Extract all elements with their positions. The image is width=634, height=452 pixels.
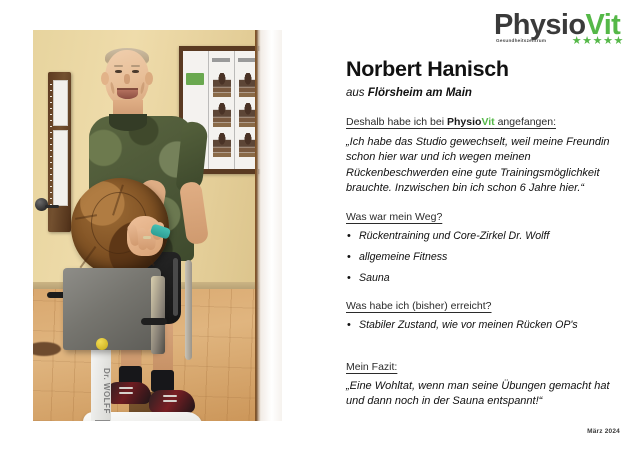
testimonial-photo: Dr. WOLFF [33,30,282,421]
spacer [346,347,618,361]
list-item: Rückentraining und Core-Zirkel Dr. Wolff [346,229,618,244]
shoe-lace [119,392,133,394]
person-shoe-left [107,382,151,404]
glass-partition [256,30,282,421]
date-stamp: März 2024 [587,428,620,435]
person-nose [124,74,130,84]
origin-city: Flörsheim am Main [368,87,472,99]
quote-why-started: „Ich habe das Studio gewechselt, weil me… [346,135,618,197]
section-heading-achieved: Was habe ich (bisher) erreicht? [346,300,618,313]
person-shoe-right [149,390,195,413]
origin-preposition: aus [346,87,365,99]
poster-logo-badge [186,73,204,85]
five-stars-icon: ★★★★★ [572,36,624,47]
machine-adjust-knob [96,338,108,350]
machine-handle-right [141,318,167,325]
quote-conclusion: „Eine Wohltat, wenn man seine Übungen ge… [346,379,618,410]
shoe-lace [163,395,177,397]
person-eye-right [132,70,139,73]
board-label-strip [53,130,68,206]
person-smile-line [110,82,115,94]
person-origin: aus Flörsheim am Main [346,87,618,101]
logo-tagline: Gesundheitszentrum [496,38,546,43]
section-heading-path: Was war mein Weg? [346,211,618,224]
testimonial-text-column: Norbert Hanisch aus Flörsheim am Main De… [346,58,618,424]
list-item: Sauna [346,271,618,286]
person-ear-left [101,72,109,85]
person-head [105,50,149,106]
person-eye-left [115,70,122,73]
board-label-strip [53,80,68,126]
person-brow-right [131,65,140,67]
section-heading-why: Deshalb habe ich bei PhysioVit angefange… [346,116,618,129]
heading-brand-physio: Physio [447,116,481,128]
heading-text-post: angefangen: [495,116,556,128]
list-item: allgemeine Fitness [346,250,618,265]
heading-brand-vit: Vit [481,116,494,128]
machine-cable [185,260,192,360]
person-brow-left [114,65,123,67]
section-heading-conclusion: Mein Fazit: [346,361,618,374]
shorts-stripe [173,258,178,316]
heading-text-pre: Deshalb habe ich bei [346,116,447,128]
person-sock-right [151,370,174,392]
finger-ring [143,236,151,239]
bracket-arm [45,205,59,208]
poster-column-header [212,58,230,62]
page-title: Norbert Hanisch [346,58,618,82]
shirt-collar [109,114,147,131]
person-ear-right [145,72,153,85]
board-scale [50,84,52,208]
wall-bracket [35,198,55,212]
poster-figure [213,73,231,95]
machine-back-pad [63,268,161,350]
machine-brand-label: Dr. WOLFF [93,368,111,414]
person-mouth [117,88,138,99]
machine-sticker [95,420,110,421]
poster-figure [213,133,231,155]
list-item: Stabiler Zustand, wie vor meinen Rücken … [346,318,618,333]
machine-pad-fold [151,276,165,354]
poster-figure-base [213,153,231,157]
shoe-lace [163,400,177,402]
poster-figure [213,103,231,125]
poster-figure-base [213,93,231,97]
poster-figure-base [213,123,231,127]
physiovit-logo: PhysioVit Gesundheitszentrum ★★★★★ [494,11,624,51]
path-list: Rückentraining und Core-Zirkel Dr. Wolff… [346,229,618,286]
shoe-lace [119,387,133,389]
achieved-list: Stabiler Zustand, wie vor meinen Rücken … [346,318,618,333]
person-smile-line [140,82,145,94]
ball-seam [80,246,96,268]
